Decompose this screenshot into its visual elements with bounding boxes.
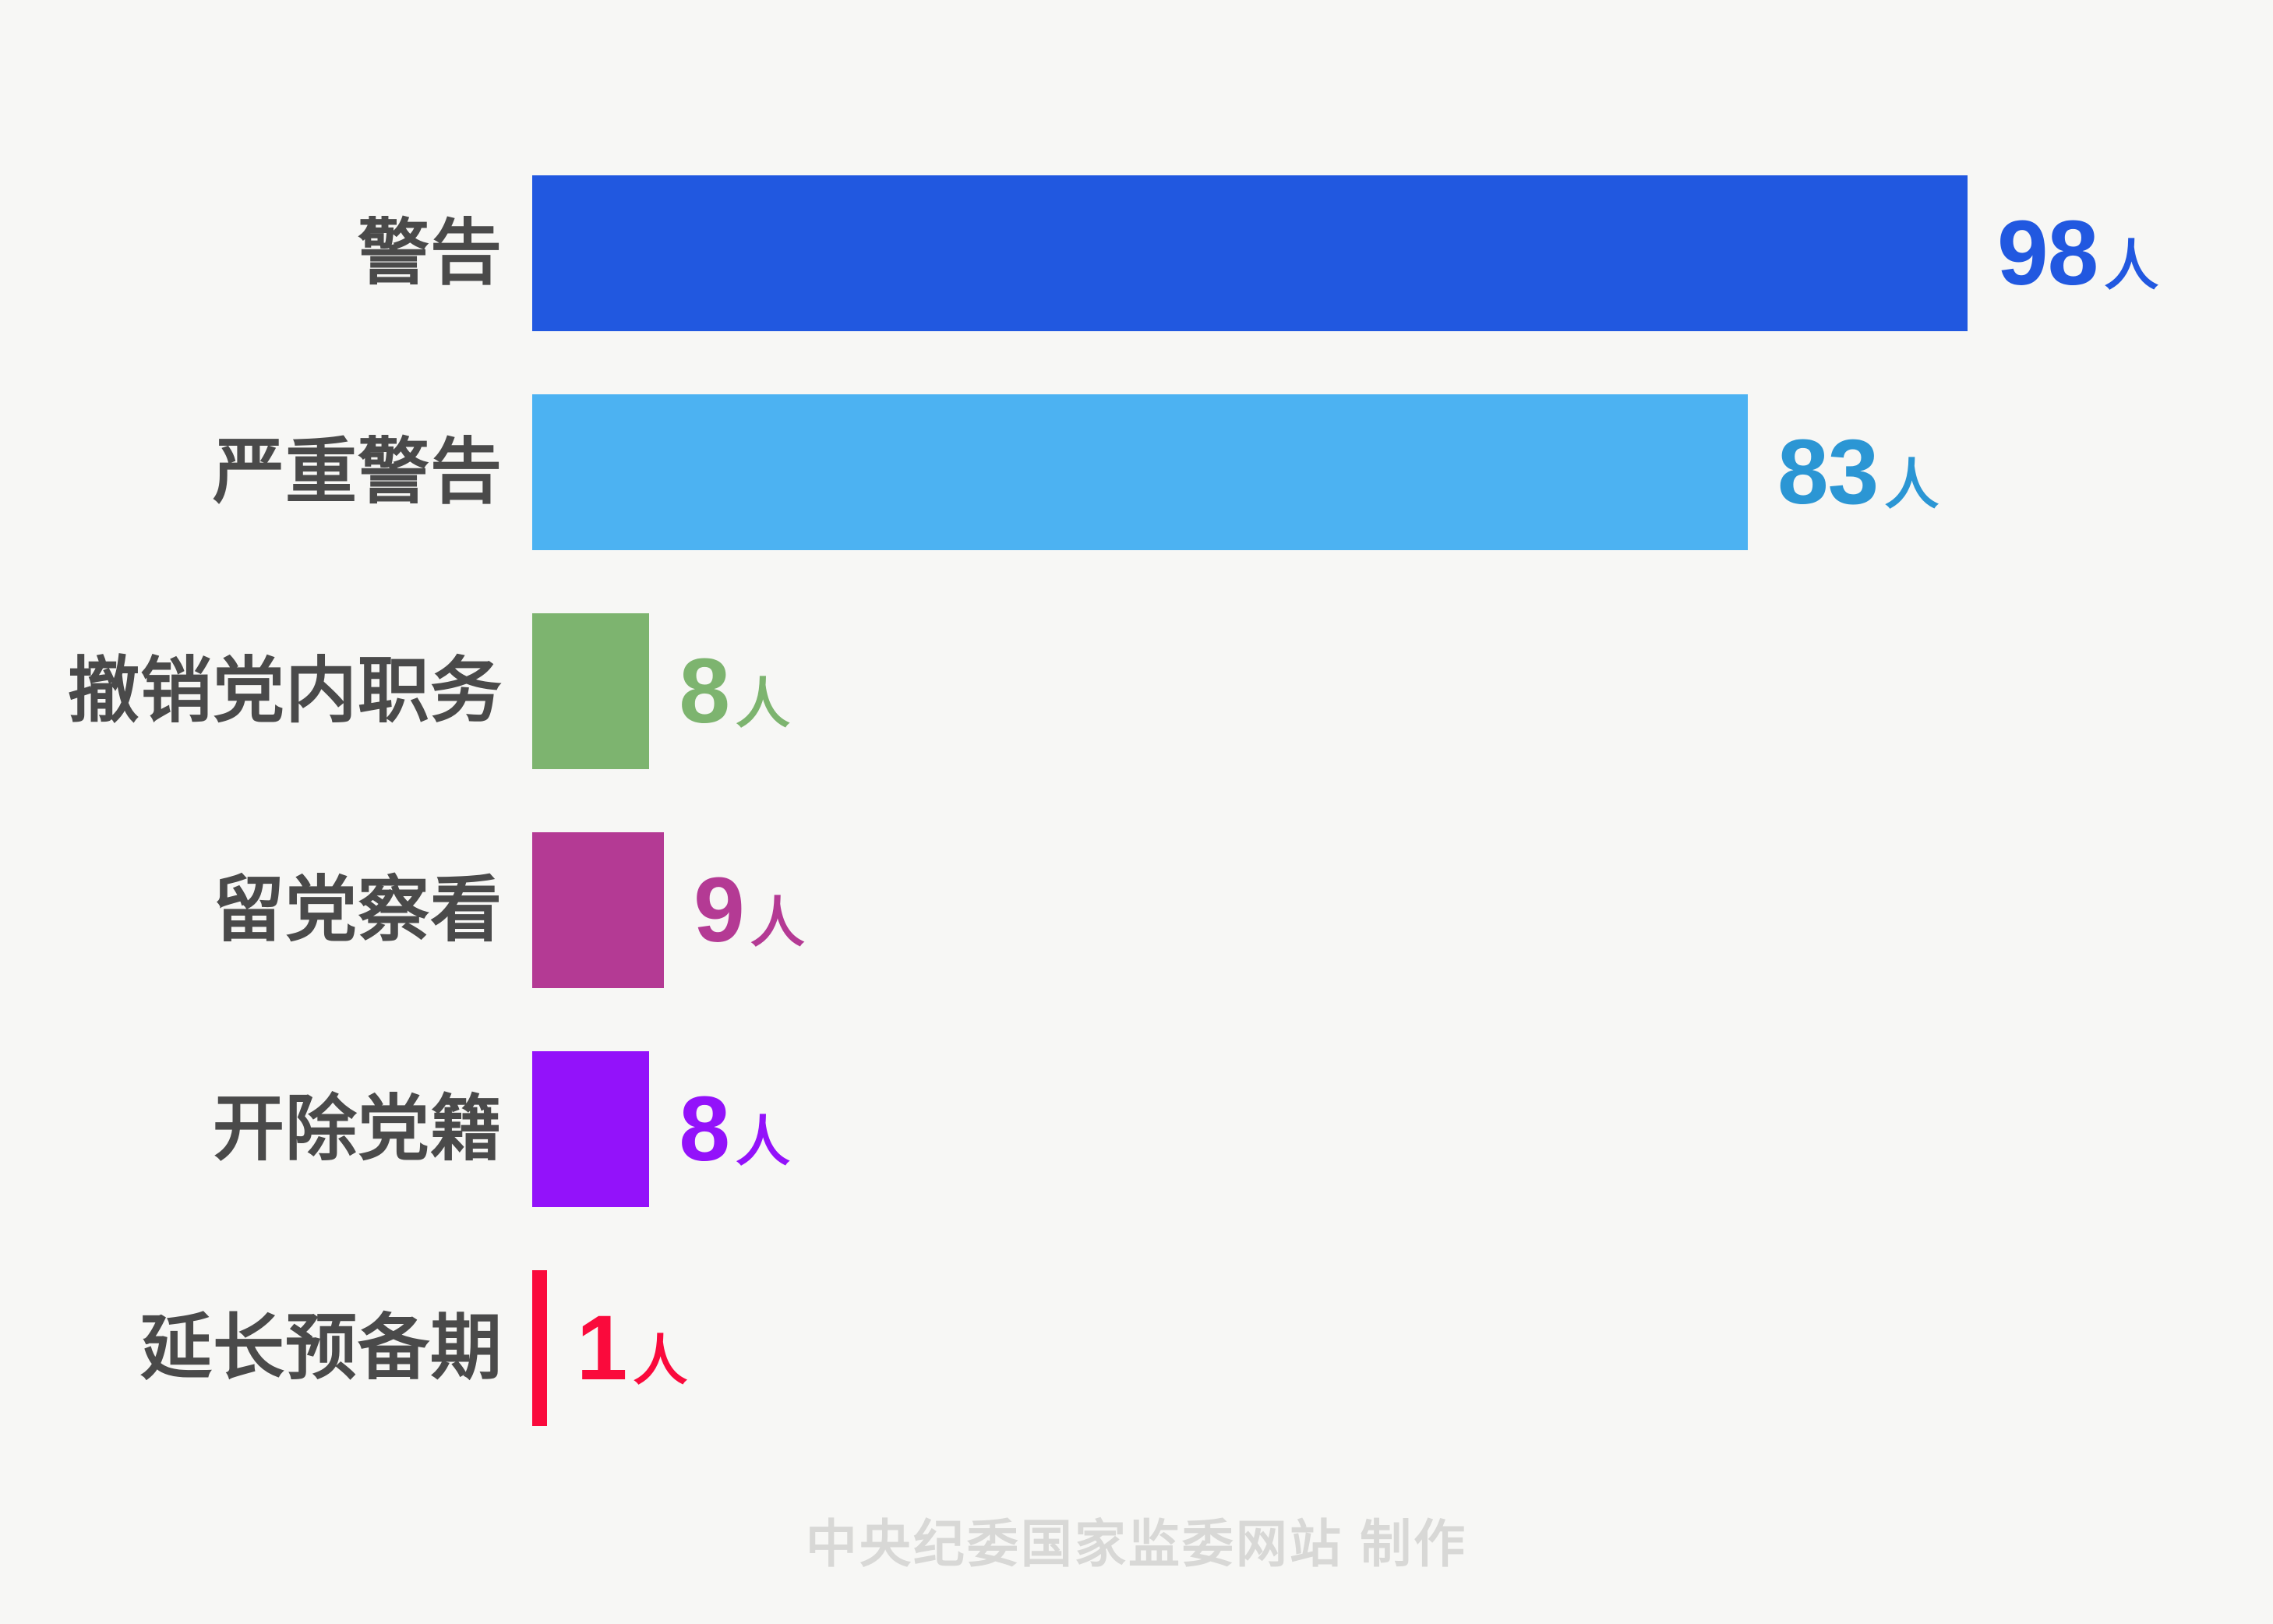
bar-value-unit: 人 <box>750 895 805 950</box>
bar-track: 9人 <box>532 832 2273 988</box>
bar-segment <box>532 394 1748 550</box>
bar-segment <box>532 613 649 769</box>
bar-value-label: 98人 <box>1997 207 2158 299</box>
bar-value-number: 83 <box>1777 426 1878 518</box>
bar-row: 延长预备期1人 <box>0 1270 2273 1426</box>
footer-credit: 中央纪委国家监委网站 制作 <box>0 1502 2273 1577</box>
bar-segment <box>532 1270 547 1426</box>
bar-value-label: 83人 <box>1777 426 1939 518</box>
bar-row: 严重警告83人 <box>0 394 2273 550</box>
bar-value-number: 8 <box>679 1083 729 1175</box>
bar-value-number: 1 <box>577 1302 627 1394</box>
bar-category-label: 延长预备期 <box>0 1312 503 1384</box>
bar-value-unit: 人 <box>736 676 790 731</box>
bar-segment <box>532 832 664 988</box>
bar-row: 警告98人 <box>0 175 2273 331</box>
bar-track: 98人 <box>532 175 2273 331</box>
bar-segment <box>532 1051 649 1207</box>
bar-row: 撤销党内职务8人 <box>0 613 2273 769</box>
bar-category-label: 开除党籍 <box>0 1093 503 1165</box>
bar-category-label: 警告 <box>0 217 503 289</box>
bar-value-number: 9 <box>694 864 744 956</box>
bar-row: 留党察看9人 <box>0 832 2273 988</box>
bar-value-label: 1人 <box>577 1302 688 1394</box>
bar-value-label: 9人 <box>694 864 805 956</box>
bar-value-unit: 人 <box>2104 238 2158 293</box>
bar-track: 83人 <box>532 394 2273 550</box>
bar-category-label: 撤销党内职务 <box>0 655 503 727</box>
bar-rows-container: 警告98人严重警告83人撤销党内职务8人留党察看9人开除党籍8人延长预备期1人 <box>0 0 2273 1457</box>
bar-value-unit: 人 <box>1884 457 1939 512</box>
bar-track: 8人 <box>532 613 2273 769</box>
bar-value-label: 8人 <box>679 1083 790 1175</box>
bar-value-unit: 人 <box>736 1114 790 1169</box>
bar-category-label: 留党察看 <box>0 874 503 946</box>
bar-value-number: 98 <box>1997 207 2098 299</box>
bar-row: 开除党籍8人 <box>0 1051 2273 1207</box>
bar-value-label: 8人 <box>679 645 790 737</box>
bar-value-number: 8 <box>679 645 729 737</box>
bar-category-label: 严重警告 <box>0 436 503 508</box>
bar-value-unit: 人 <box>633 1333 687 1388</box>
bar-segment <box>532 175 1968 331</box>
bar-track: 1人 <box>532 1270 2273 1426</box>
bar-track: 8人 <box>532 1051 2273 1207</box>
bar-chart-infographic: 警告98人严重警告83人撤销党内职务8人留党察看9人开除党籍8人延长预备期1人 … <box>0 0 2273 1624</box>
